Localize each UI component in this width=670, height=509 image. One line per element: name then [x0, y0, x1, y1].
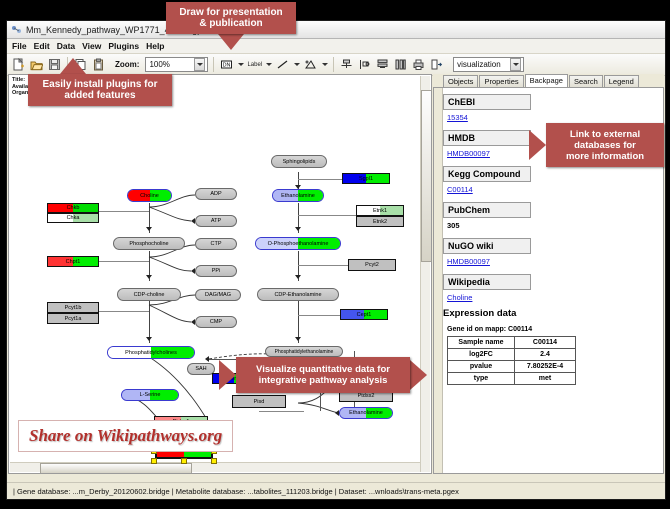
node-label: L-Serine	[140, 392, 161, 398]
callout-plugins: Easily install plugins for added feature…	[28, 74, 172, 106]
node-label: DAG/MAG	[205, 292, 231, 298]
line-icon[interactable]	[275, 57, 290, 72]
node-label: ATP	[211, 218, 221, 224]
menu-bar: File Edit Data View Plugins Help	[7, 39, 665, 54]
db-link-wikipedia[interactable]: Choline	[447, 293, 661, 302]
selection-handle-s[interactable]	[181, 458, 187, 464]
menu-item-file[interactable]: File	[12, 41, 27, 51]
node-ethanolamine-top[interactable]: Ethanolamine	[272, 189, 324, 202]
status-bar-text: | Gene database: ...m_Derby_20120602.bri…	[13, 487, 459, 496]
db-header-hmdb: HMDB	[443, 130, 531, 146]
tab-legend[interactable]: Legend	[604, 75, 639, 87]
node-label: ADP	[210, 191, 221, 197]
menu-item-data[interactable]: Data	[57, 41, 75, 51]
table-row: log2FC 2.4	[448, 349, 576, 361]
node-cdp-ethanolamine[interactable]: CDP-Ethanolamine	[257, 288, 339, 301]
node-label: Etnk2	[373, 219, 387, 225]
node-chka[interactable]: Chka	[47, 213, 99, 223]
export-icon[interactable]	[429, 57, 444, 72]
align-left-icon[interactable]	[357, 57, 372, 72]
callout-visualize: Visualize quantitative data for integrat…	[236, 357, 410, 393]
node-label: Sphingolipids	[283, 159, 316, 165]
node-label: Pcyt2	[365, 262, 379, 268]
callout-plugins-arrow	[60, 58, 86, 74]
new-file-icon[interactable]	[11, 57, 26, 72]
node-cdp-choline[interactable]: CDP-choline	[117, 288, 181, 301]
visualization-combo[interactable]: visualization	[453, 57, 524, 72]
arrow-to-ptdcholine	[146, 337, 152, 341]
print-icon[interactable]	[411, 57, 426, 72]
node-label: Cept1	[357, 312, 372, 318]
db-header-chebi: ChEBI	[443, 94, 531, 110]
label-dropdown-arrow[interactable]	[265, 58, 272, 71]
node-adp[interactable]: ADP	[195, 188, 237, 200]
tab-objects[interactable]: Objects	[443, 75, 478, 87]
menu-item-help[interactable]: Help	[146, 41, 164, 51]
canvas-hscroll-thumb[interactable]	[40, 463, 192, 474]
node-pcyt1a[interactable]: Pcyt1a	[47, 313, 99, 324]
toolbar-separator-3	[333, 57, 334, 72]
arrow-to-phosphocholine	[146, 227, 152, 231]
expr-key-sample-name: Sample name	[448, 337, 515, 349]
label-tool-label[interactable]: Label	[247, 62, 262, 68]
selection-handle-se[interactable]	[211, 458, 217, 464]
open-file-icon[interactable]	[29, 57, 44, 72]
arrow-pemt	[205, 356, 209, 362]
edge-sgpl1-2	[298, 179, 344, 180]
callout-draw-line2: & publication	[199, 18, 262, 29]
tab-backpage[interactable]: Backpage	[525, 74, 568, 87]
expr-value-sample-name: C00114	[515, 337, 576, 349]
arrow-to-cdpethanolamine	[295, 275, 301, 279]
node-label: Pcyt1b	[65, 305, 82, 311]
node-sphingolipids[interactable]: Sphingolipids	[271, 155, 327, 168]
arrow-to-ptdetn	[295, 337, 301, 341]
db-header-nugo: NuGO wiki	[443, 238, 531, 254]
callout-visualize-line1: Visualize quantitative data for	[256, 364, 390, 375]
canvas-vscrollbar[interactable]	[420, 76, 430, 472]
datanode-dropdown-arrow[interactable]	[237, 58, 244, 71]
node-cmp[interactable]: CMP	[195, 316, 237, 328]
callout-links-arrow	[529, 130, 546, 160]
node-label: CDP-Ethanolamine	[274, 292, 321, 298]
screenshot-root: Mm_Kennedy_pathway_WP1771_45176.gpml Fil…	[0, 0, 670, 509]
node-label: Ethanolamine	[281, 193, 315, 199]
align-center-icon[interactable]	[339, 57, 354, 72]
node-label: Choline	[140, 193, 159, 199]
node-label: CMP	[210, 319, 222, 325]
db-header-pubchem: PubChem	[443, 202, 531, 218]
edge-etnk	[298, 215, 356, 216]
table-row: pvalue 7.80252E-4	[448, 361, 576, 373]
node-label: Phosphatidylethanolamine	[275, 349, 334, 355]
node-label: Sgpl1	[359, 176, 373, 182]
table-row: Sample name C00114	[448, 337, 576, 349]
expr-key-type: type	[448, 373, 515, 385]
node-label: Ptdss2	[358, 393, 375, 399]
zoom-combo[interactable]: 100%	[145, 57, 208, 72]
node-dagmag[interactable]: DAG/MAG	[195, 289, 241, 301]
edge-chpt1-to-backbone	[99, 261, 149, 262]
node-cept1[interactable]: Cept1	[340, 309, 388, 320]
node-sgpl1[interactable]: Sgpl1	[342, 173, 390, 184]
node-label: CTP	[211, 241, 222, 247]
canvas-vscroll-thumb[interactable]	[421, 90, 432, 262]
selection-handle-sw[interactable]	[151, 458, 157, 464]
expression-table: Sample name C00114 log2FC 2.4 pvalue 7.8…	[447, 336, 576, 385]
distribute-vertical-icon[interactable]	[375, 57, 390, 72]
node-pcyt2[interactable]: Pcyt2	[348, 259, 396, 271]
visualization-value: visualization	[457, 60, 501, 69]
gene-id-on-mapp: Gene id on mapp: C00114	[447, 326, 661, 333]
node-pisd[interactable]: Pisd	[232, 395, 286, 408]
distribute-horizontal-icon[interactable]	[393, 57, 408, 72]
edge-pcyt1-to-backbone	[99, 311, 149, 312]
node-ppi[interactable]: PPi	[195, 265, 237, 277]
node-label: Pisd	[254, 399, 265, 405]
db-header-kegg: Kegg Compound	[443, 166, 531, 182]
shape-dropdown-arrow[interactable]	[321, 58, 328, 71]
edge-pisd	[259, 411, 304, 412]
callout-visualize-arrow-right	[410, 360, 427, 390]
callout-links-line2: databases for	[574, 140, 636, 151]
callout-plugins-line1: Easily install plugins for	[42, 79, 157, 90]
callout-draw: Draw for presentation & publication	[166, 2, 296, 34]
tab-search[interactable]: Search	[569, 75, 603, 87]
toolbar-separator-2	[213, 57, 214, 72]
expr-value-log2fc: 2.4	[515, 349, 576, 361]
callout-draw-arrow	[218, 34, 244, 50]
callout-links: Link to external databases for more info…	[546, 123, 664, 167]
node-label: O-Phosphoethanolamine	[268, 241, 329, 247]
db-link-kegg[interactable]: C00114	[447, 185, 661, 194]
db-link-chebi[interactable]: 15354	[447, 113, 661, 122]
menu-item-edit[interactable]: Edit	[34, 41, 50, 51]
status-bar: | Gene database: ...m_Derby_20120602.bri…	[7, 482, 665, 499]
node-l-serine-left[interactable]: L-Serine	[121, 389, 179, 401]
sidebar-left-gutter	[434, 88, 443, 473]
node-ctp[interactable]: CTP	[195, 238, 237, 250]
node-etnk1[interactable]: Etnk1	[356, 205, 404, 216]
node-ethanolamine-bottom[interactable]: Ethanolamine	[339, 407, 393, 419]
node-choline-top[interactable]: Choline	[127, 189, 172, 202]
callout-links-line3: more information	[566, 151, 644, 162]
edge-cept1	[298, 315, 340, 316]
node-pcyt1b[interactable]: Pcyt1b	[47, 302, 99, 313]
callout-draw-line1: Draw for presentation	[179, 7, 282, 18]
db-header-wikipedia: Wikipedia	[443, 274, 531, 290]
node-phosphocholine[interactable]: Phosphocholine	[113, 237, 185, 250]
callout-share: Share on Wikipathways.org	[18, 420, 233, 452]
datanode-icon[interactable]: DN	[219, 57, 234, 72]
node-chkb[interactable]: Chkb	[47, 203, 99, 213]
tab-properties[interactable]: Properties	[479, 75, 523, 87]
callout-visualize-line2: integrative pathway analysis	[259, 375, 388, 386]
node-label: Pcyt1a	[65, 316, 82, 322]
callout-links-line1: Link to external	[570, 129, 640, 140]
zoom-value: 100%	[149, 60, 169, 69]
expr-value-pvalue: 7.80252E-4	[515, 361, 576, 373]
expression-data-heading: Expression data	[443, 308, 661, 319]
paste-icon[interactable]	[91, 57, 106, 72]
line-dropdown-arrow[interactable]	[293, 58, 300, 71]
node-label: SAH	[195, 366, 206, 372]
pathway-canvas[interactable]: Title: Available: Organism:	[8, 74, 432, 474]
node-label: Chkb	[67, 205, 80, 211]
pathvisio-icon	[11, 24, 22, 35]
table-row: type met	[448, 373, 576, 385]
zoom-dropdown-arrow[interactable]	[194, 58, 205, 71]
edge-pcyt2	[298, 265, 348, 266]
node-atp[interactable]: ATP	[195, 215, 237, 227]
db-link-nugo[interactable]: HMDB00097	[447, 257, 661, 266]
menu-item-plugins[interactable]: Plugins	[108, 41, 139, 51]
db-value-pubchem: 305	[447, 221, 661, 230]
visualization-dropdown-arrow[interactable]	[510, 58, 521, 71]
node-label: Phosphatidylcholines	[125, 350, 177, 356]
node-label: Chpt1	[66, 259, 81, 265]
node-sah[interactable]: SAH	[187, 363, 215, 375]
node-o-phosphoethanolamine[interactable]: O-Phosphoethanolamine	[255, 237, 341, 250]
title-bar: Mm_Kennedy_pathway_WP1771_45176.gpml	[7, 21, 665, 39]
node-label: Phosphocholine	[129, 241, 168, 247]
node-chpt1[interactable]: Chpt1	[47, 256, 99, 267]
share-text: Share on Wikipathways.org	[29, 426, 222, 445]
svg-text:DN: DN	[223, 63, 231, 69]
menu-item-view[interactable]: View	[82, 41, 101, 51]
expr-key-pvalue: pvalue	[448, 361, 515, 373]
node-label: Ethanolamine	[349, 410, 383, 416]
edge-chk-to-backbone	[99, 211, 149, 212]
node-phosphatidylcholines[interactable]: Phosphatidylcholines	[107, 346, 195, 359]
node-phosphatidylethanolamine[interactable]: Phosphatidylethanolamine	[265, 346, 343, 357]
expr-key-log2fc: log2FC	[448, 349, 515, 361]
pathway-drawing[interactable]: Title: Available: Organism:	[9, 75, 431, 474]
node-label: Etnk1	[373, 208, 387, 214]
callout-plugins-line2: added features	[64, 90, 135, 101]
callout-visualize-arrow-left	[219, 360, 236, 390]
node-label: Chka	[67, 215, 80, 221]
node-label: PPi	[212, 268, 221, 274]
node-etnk2[interactable]: Etnk2	[356, 216, 404, 227]
arrow-to-cdpcholine	[146, 275, 152, 279]
node-label: CDP-choline	[134, 292, 165, 298]
arrow-to-ophospho	[295, 227, 301, 231]
sidebar-tabs: Objects Properties Backpage Search Legen…	[433, 74, 664, 87]
zoom-label: Zoom:	[115, 60, 139, 69]
expr-value-type: met	[515, 373, 576, 385]
shape-icon[interactable]	[303, 57, 318, 72]
